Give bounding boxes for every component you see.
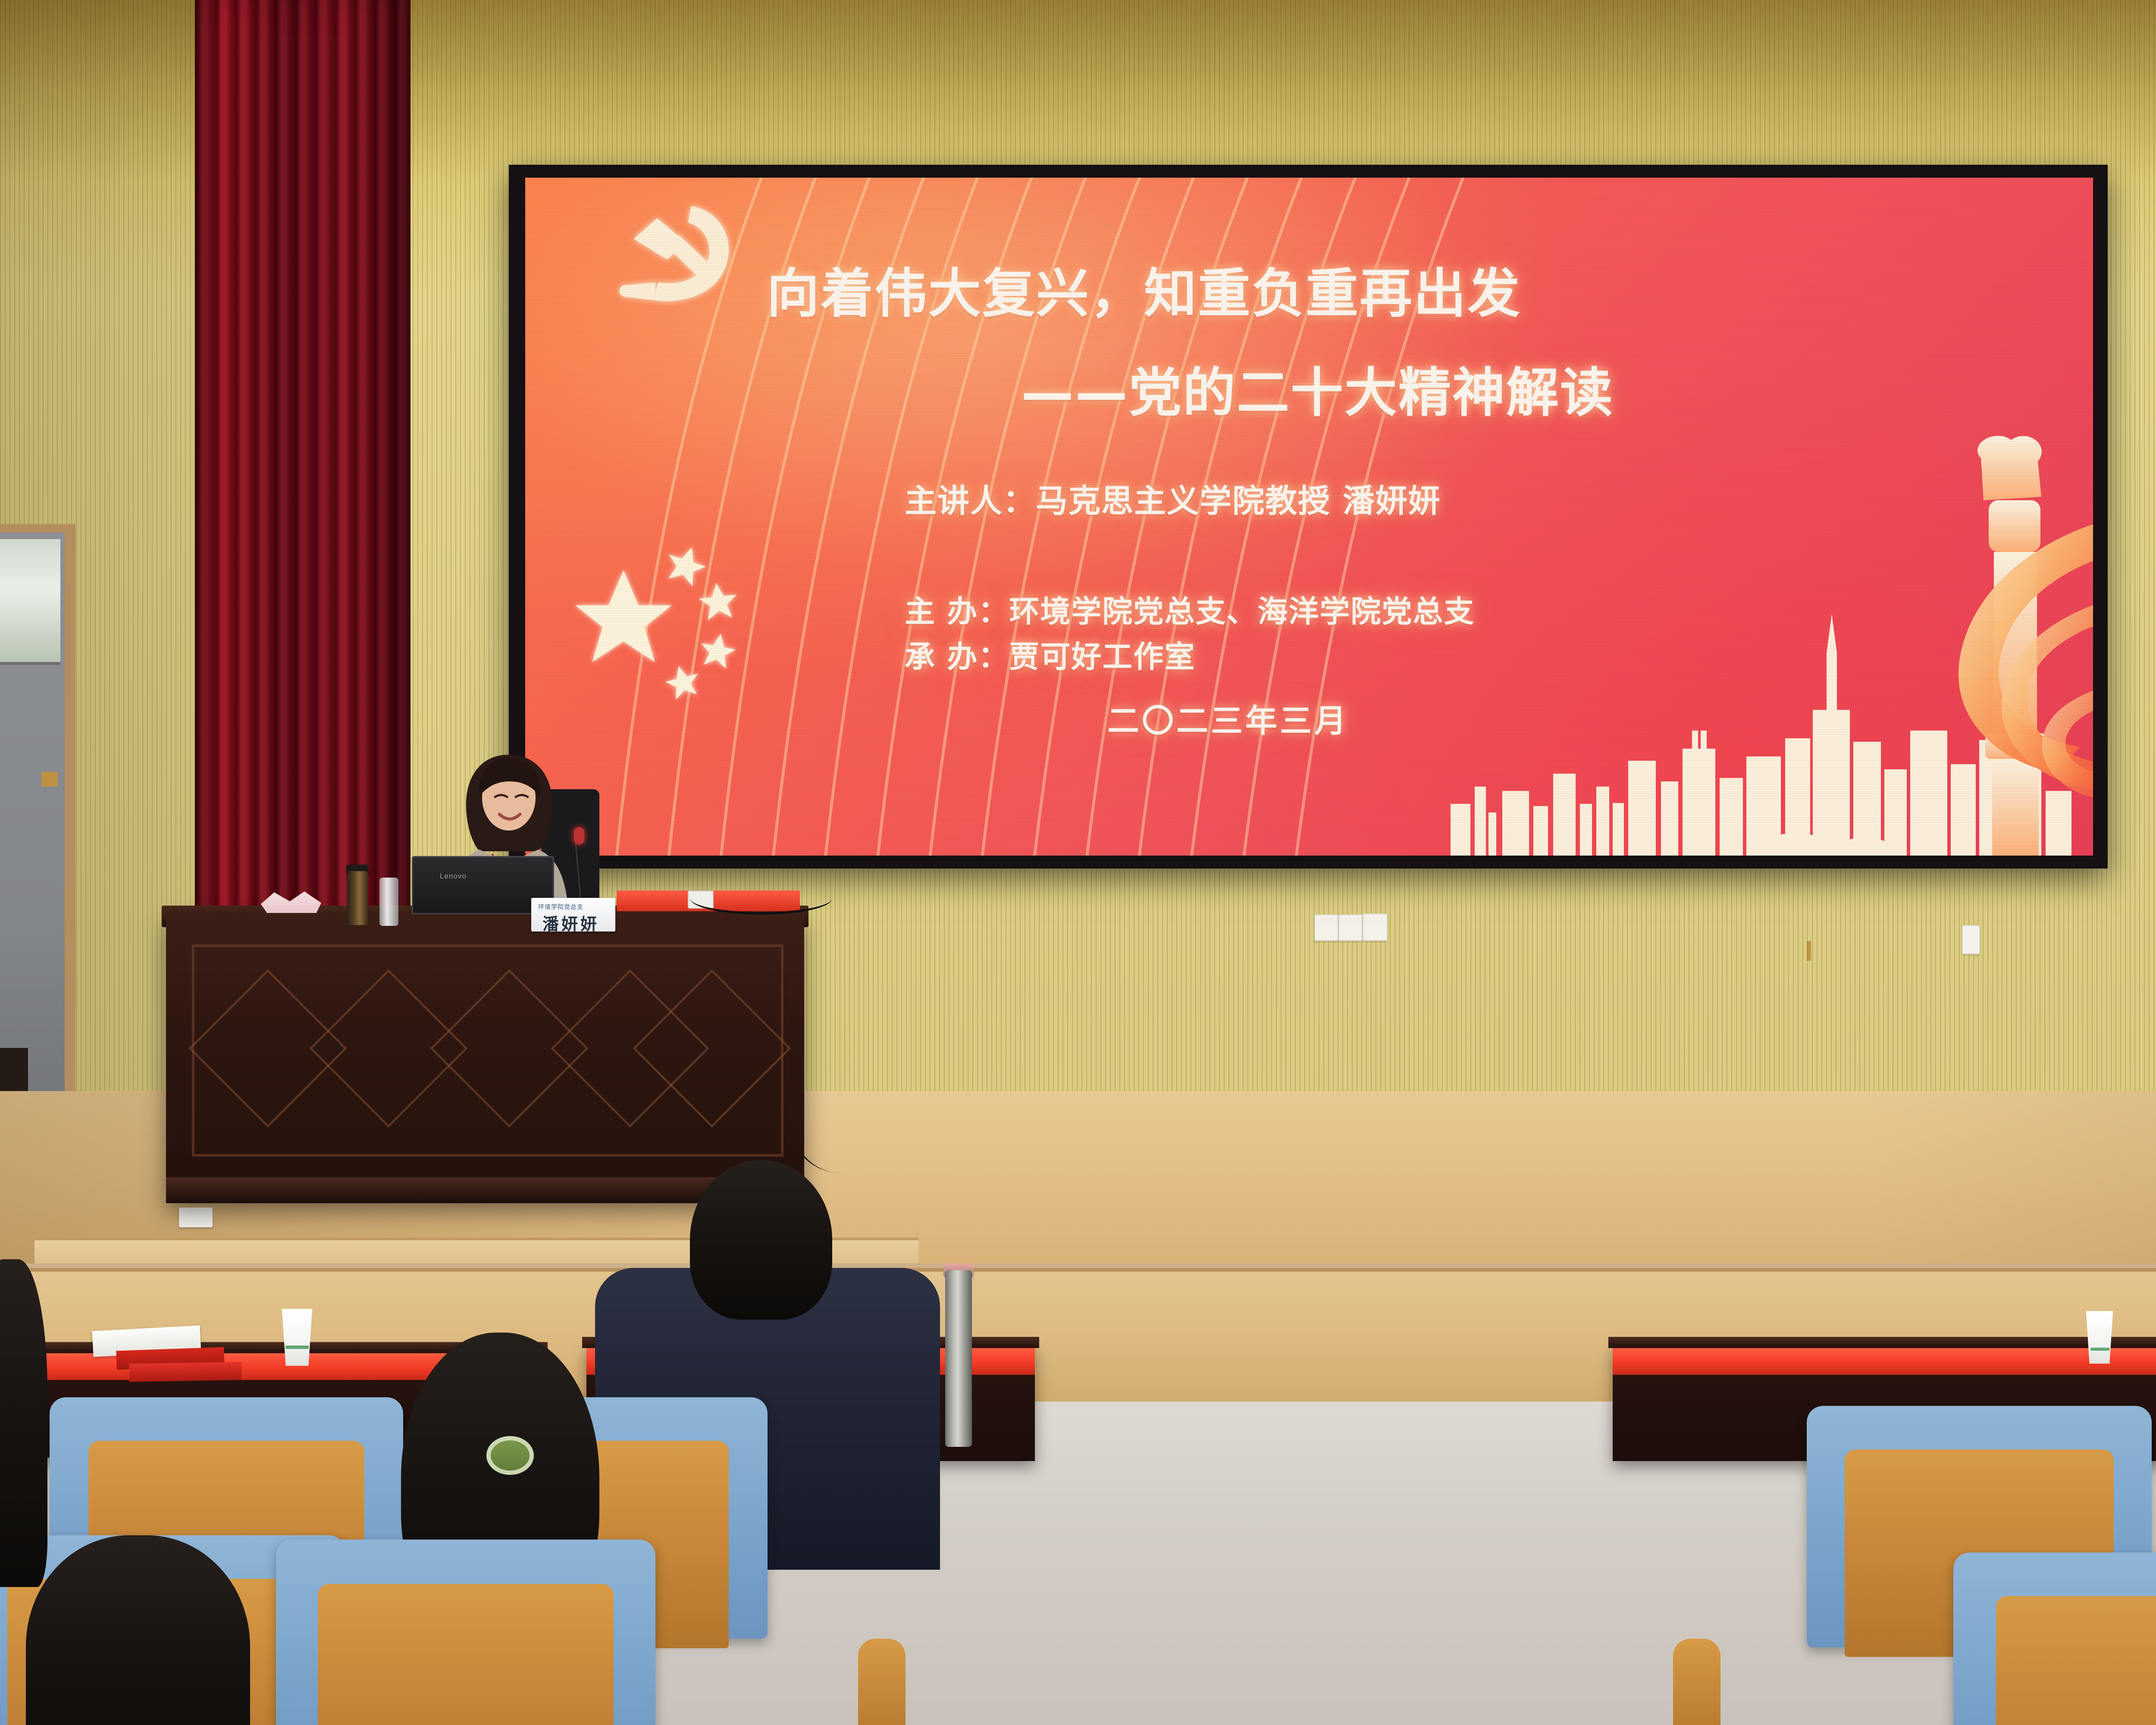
audience-desk-red-face [1613,1348,2156,1375]
attendee-hair [26,1535,250,1725]
podium-diamond [633,969,791,1128]
chair-armrest [858,1639,906,1725]
slide-cohost-line: 承 办：贾可好工作室 [905,633,1195,676]
chair-wood-back [318,1584,614,1725]
slide-host-line: 主 办：环境学院党总支、海洋学院党总支 [905,587,1475,631]
chair-armrest [1673,1639,1720,1725]
thermos-tea-bottle[interactable] [347,871,368,925]
slide-title-line-2: ——党的二十大精神解读 [1021,350,1614,427]
water-bottle[interactable] [379,878,398,926]
slide-date-line: 二〇二三年三月 [1107,695,1349,741]
lecture-hall-photo: 向着伟大复兴，知重负重再出发 ——党的二十大精神解读 主讲人：马克思主义学院教授… [0,0,2156,1725]
stage-cable [789,1044,978,1173]
wall-switch[interactable] [1363,913,1388,941]
wall-sticker [41,772,58,787]
podium-panel [192,944,783,1157]
wall-outlet[interactable] [1338,914,1363,941]
slide-speaker-line: 主讲人：马克思主义学院教授 潘妍妍 [905,475,1441,521]
laptop-brand-label: Lenovo [440,872,467,881]
wall-scuff [1807,941,1811,961]
attendee-head [690,1160,832,1320]
hair-clip [486,1436,534,1475]
wall-outlet[interactable] [1314,914,1338,941]
paper-cup-logo [285,1345,309,1349]
attendee-head [26,1535,250,1725]
thermos-flask[interactable] [945,1270,972,1447]
red-booklet [129,1362,242,1382]
attendee-hair [0,1259,47,1587]
microphone-head [574,827,584,844]
wall-outlet[interactable] [1962,925,1980,954]
paper-cup-logo [2090,1348,2109,1351]
audience-chair[interactable] [276,1540,655,1725]
attendee-head [0,1259,47,1587]
led-screen: 向着伟大复兴，知重负重再出发 ——党的二十大精神解读 主讲人：马克思主义学院教授… [525,178,2093,856]
door-window [0,539,60,665]
chair-wood-back [1996,1596,2156,1725]
floor-outlet-box[interactable] [179,1207,213,1227]
slide-text-block: 向着伟大复兴，知重负重再出发 ——党的二十大精神解读 主讲人：马克思主义学院教授… [525,178,2093,856]
attendee-hair [690,1160,832,1320]
slide-title-line-1: 向着伟大复兴，知重负重再出发 [767,251,1521,327]
audience-chair[interactable] [1953,1552,2156,1725]
nameplate-name-label: 潘妍妍 [542,911,599,935]
nameplate-org-label: 环境学院党总支 [538,903,583,911]
